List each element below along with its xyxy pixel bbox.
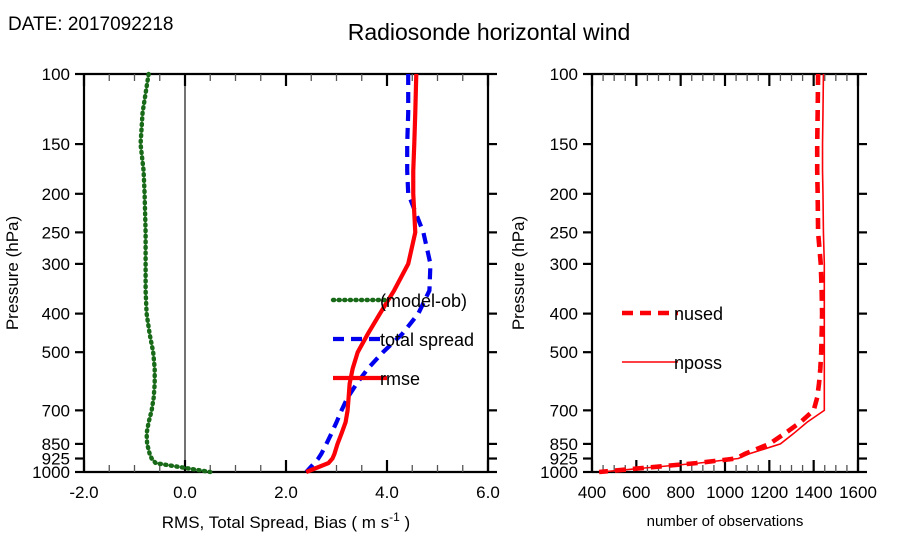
y-tick-label: 250	[550, 223, 578, 242]
x-tick-label: 4.0	[375, 483, 399, 502]
y-tick-label: 250	[42, 223, 70, 242]
y-tick-label: 100	[550, 65, 578, 84]
x-tick-label: 1400	[795, 483, 833, 502]
x-tick-label: 1000	[706, 483, 744, 502]
y-tick-label: 300	[42, 255, 70, 274]
x-axis-title-exponent: -1	[389, 510, 400, 524]
x-tick-label: 400	[578, 483, 606, 502]
figure-background	[0, 0, 900, 560]
y-tick-label: 300	[550, 255, 578, 274]
y-tick-label: 150	[42, 135, 70, 154]
radiosonde-figure: DATE: 2017092218 Radiosonde horizontal w…	[0, 0, 900, 560]
page-title: Radiosonde horizontal wind	[348, 19, 631, 45]
legend-label: (model-ob)	[380, 291, 467, 311]
x-tick-label: 1600	[839, 483, 877, 502]
legend-label: rmse	[380, 369, 420, 389]
legend-label: nposs	[674, 353, 722, 373]
plot-page: DATE: 2017092218 Radiosonde horizontal w…	[0, 0, 900, 560]
x-tick-label: 0.0	[173, 483, 197, 502]
x-tick-label: 1200	[750, 483, 788, 502]
y-tick-label: 500	[550, 343, 578, 362]
y-tick-label: 1000	[540, 463, 578, 482]
y-tick-label: 150	[550, 135, 578, 154]
x-tick-label: 600	[622, 483, 650, 502]
legend-label: total spread	[380, 330, 474, 350]
y-tick-label: 700	[42, 401, 70, 420]
x-axis-title: RMS, Total Spread, Bias ( m s-1 )	[162, 510, 410, 532]
y-tick-label: 400	[550, 305, 578, 324]
x-tick-label: 6.0	[476, 483, 500, 502]
y-tick-label: 400	[42, 305, 70, 324]
x-tick-label: 2.0	[274, 483, 298, 502]
y-tick-label: 100	[42, 65, 70, 84]
y-tick-label: 700	[550, 401, 578, 420]
legend-label: nused	[674, 304, 723, 324]
y-tick-label: 200	[42, 185, 70, 204]
date-label: DATE: 2017092218	[8, 14, 174, 35]
x-axis-title-main: RMS, Total Spread, Bias ( m s	[162, 513, 389, 532]
x-tick-label: -2.0	[69, 483, 98, 502]
x-axis-title-tail: )	[400, 513, 410, 532]
x-axis-title: number of observations	[647, 513, 804, 530]
y-tick-label: 200	[550, 185, 578, 204]
y-tick-label: 1000	[32, 463, 70, 482]
y-tick-label: 500	[42, 343, 70, 362]
x-tick-label: 800	[666, 483, 694, 502]
y-axis-title: Pressure (hPa)	[3, 216, 22, 330]
y-axis-title: Pressure (hPa)	[509, 216, 528, 330]
